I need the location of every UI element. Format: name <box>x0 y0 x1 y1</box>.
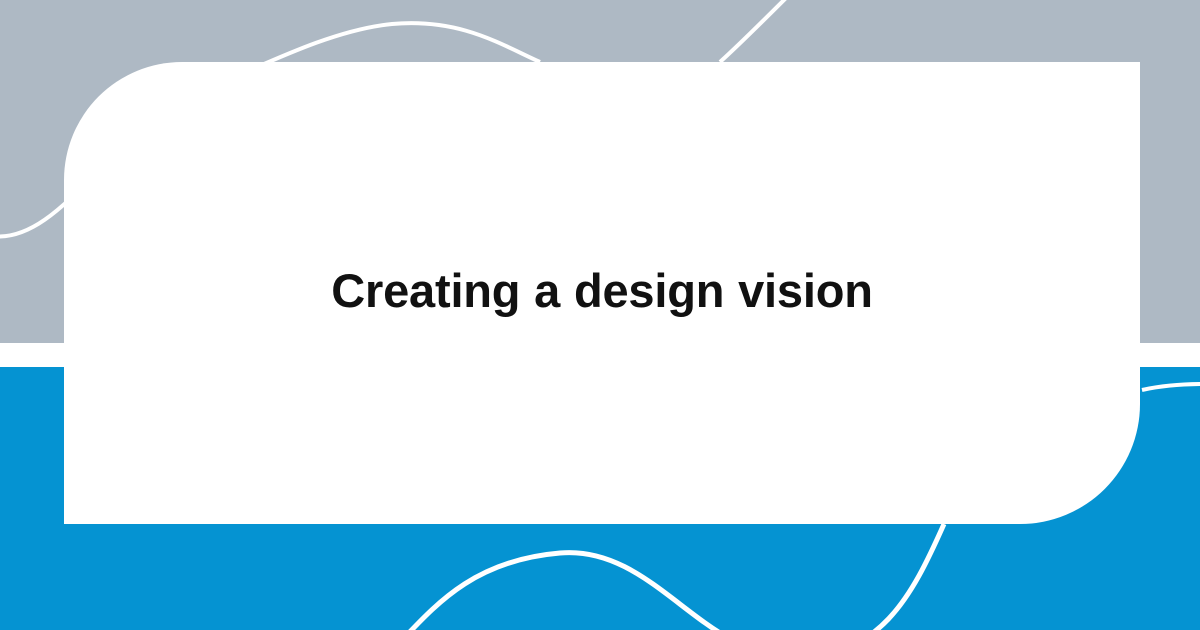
page-title: Creating a design vision <box>282 263 922 318</box>
card-inner: Creating a design vision <box>282 263 922 322</box>
poster-canvas: Creating a design vision <box>0 0 1200 630</box>
content-card: Creating a design vision <box>64 62 1140 524</box>
